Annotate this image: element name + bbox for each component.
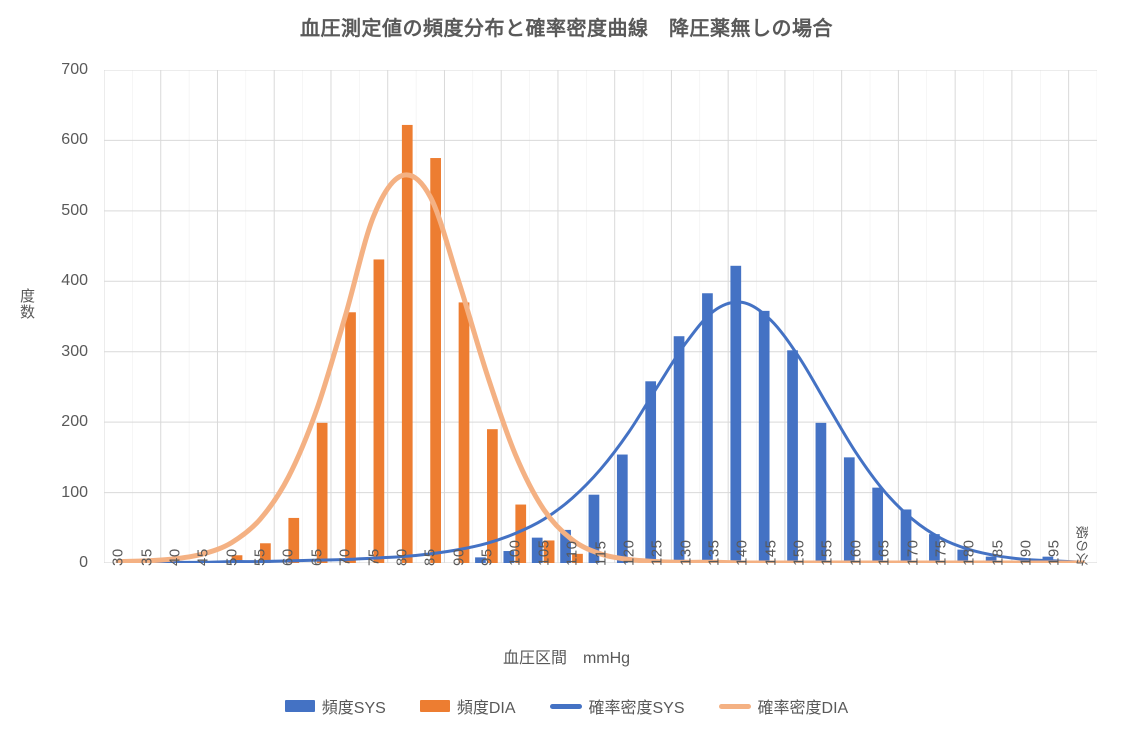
x-axis-tick-label: 80 — [393, 548, 410, 566]
density-curve — [118, 302, 1083, 562]
x-axis-tick-label: 155 — [819, 539, 836, 566]
legend-item-label: 確率密度SYS — [589, 694, 685, 718]
chart-legend: 頻度SYS頻度DIA確率密度SYS確率密度DIA — [0, 694, 1133, 718]
x-axis-tick-label: 165 — [876, 539, 893, 566]
bar — [787, 350, 798, 563]
legend-item[interactable]: 頻度DIA — [420, 694, 516, 718]
bar — [759, 311, 770, 563]
x-axis-tick-label: 100 — [507, 539, 524, 566]
bar — [345, 312, 356, 563]
legend-bar-swatch-icon — [285, 700, 315, 712]
bar-series — [232, 125, 583, 563]
x-axis-tick-label: 160 — [847, 539, 864, 566]
y-axis-tick-label: 300 — [61, 343, 88, 361]
x-axis-tick-label: 95 — [479, 548, 496, 566]
x-axis-tick-label: 125 — [649, 539, 666, 566]
density-curve — [118, 175, 1083, 563]
bar — [374, 259, 385, 563]
x-axis-tick-label: 145 — [762, 539, 779, 566]
x-axis-tick-label: 75 — [365, 548, 382, 566]
x-axis-tick-label: 30 — [110, 548, 127, 566]
x-axis-tick-label: 60 — [280, 548, 297, 566]
x-axis-tick-label: 70 — [337, 548, 354, 566]
y-axis-tick-label: 200 — [61, 413, 88, 431]
x-axis-tick-label: 130 — [677, 539, 694, 566]
x-axis-tick-label: 150 — [791, 539, 808, 566]
plot-area — [104, 70, 1097, 563]
bar-series — [475, 266, 1053, 563]
y-axis-tick-label: 0 — [79, 554, 88, 572]
x-axis-tick-label: 55 — [252, 548, 269, 566]
x-axis-tick-label: 105 — [535, 539, 552, 566]
chart-title: 血圧測定値の頻度分布と確率密度曲線 降圧薬無しの場合 — [0, 12, 1133, 41]
x-axis-tick-label: 50 — [223, 548, 240, 566]
x-axis-tick-label: 185 — [989, 539, 1006, 566]
legend-item[interactable]: 頻度SYS — [285, 694, 386, 718]
x-axis-tick-label: 135 — [705, 539, 722, 566]
y-axis-tick-label: 500 — [61, 202, 88, 220]
x-axis-tick-label: 次の級 — [1073, 526, 1092, 567]
legend-line-swatch-icon — [550, 704, 582, 709]
x-axis-tick-label: 140 — [734, 539, 751, 566]
x-axis-tick-label: 90 — [450, 548, 467, 566]
legend-line-swatch-icon — [719, 704, 751, 709]
x-axis-tick-label: 110 — [564, 541, 581, 566]
x-axis-tick-label: 170 — [904, 539, 921, 566]
y-axis-tick-label: 400 — [61, 272, 88, 290]
bar — [730, 266, 741, 563]
x-axis-tick-label: 120 — [620, 539, 637, 566]
x-axis-tick-label: 180 — [961, 539, 978, 566]
legend-item[interactable]: 確率密度SYS — [550, 694, 685, 718]
x-axis-tick-label: 85 — [422, 548, 439, 566]
legend-item-label: 確率密度DIA — [758, 694, 849, 718]
x-axis-tick-label: 65 — [308, 548, 325, 566]
chart-container: 血圧測定値の頻度分布と確率密度曲線 降圧薬無しの場合 度数 0100200300… — [0, 0, 1133, 729]
bar — [459, 302, 470, 563]
y-axis-tick-labels: 0100200300400500600700 — [0, 70, 96, 563]
x-axis-tick-label: 195 — [1046, 539, 1063, 566]
x-axis-tick-label: 40 — [166, 548, 183, 566]
legend-item[interactable]: 確率密度DIA — [719, 694, 849, 718]
x-axis-tick-labels: 3035404550556065707580859095100105110115… — [104, 566, 1097, 636]
x-axis-tick-label: 115 — [592, 541, 609, 566]
y-axis-tick-label: 100 — [61, 484, 88, 502]
x-axis-title: 血圧区間 mmHg — [0, 644, 1133, 668]
y-axis-tick-label: 600 — [61, 131, 88, 149]
y-axis-tick-label: 700 — [61, 61, 88, 79]
bar — [402, 125, 413, 563]
bar — [645, 381, 656, 563]
x-axis-tick-label: 45 — [195, 548, 212, 566]
bar — [317, 423, 328, 563]
x-axis-tick-label: 175 — [932, 539, 949, 566]
x-axis-tick-label: 190 — [1018, 539, 1035, 566]
x-axis-tick-label: 35 — [138, 548, 155, 566]
bar — [674, 336, 685, 563]
legend-bar-swatch-icon — [420, 700, 450, 712]
bar — [702, 293, 713, 563]
legend-item-label: 頻度DIA — [457, 694, 516, 718]
data-series-layer — [104, 70, 1097, 563]
legend-item-label: 頻度SYS — [322, 694, 386, 718]
